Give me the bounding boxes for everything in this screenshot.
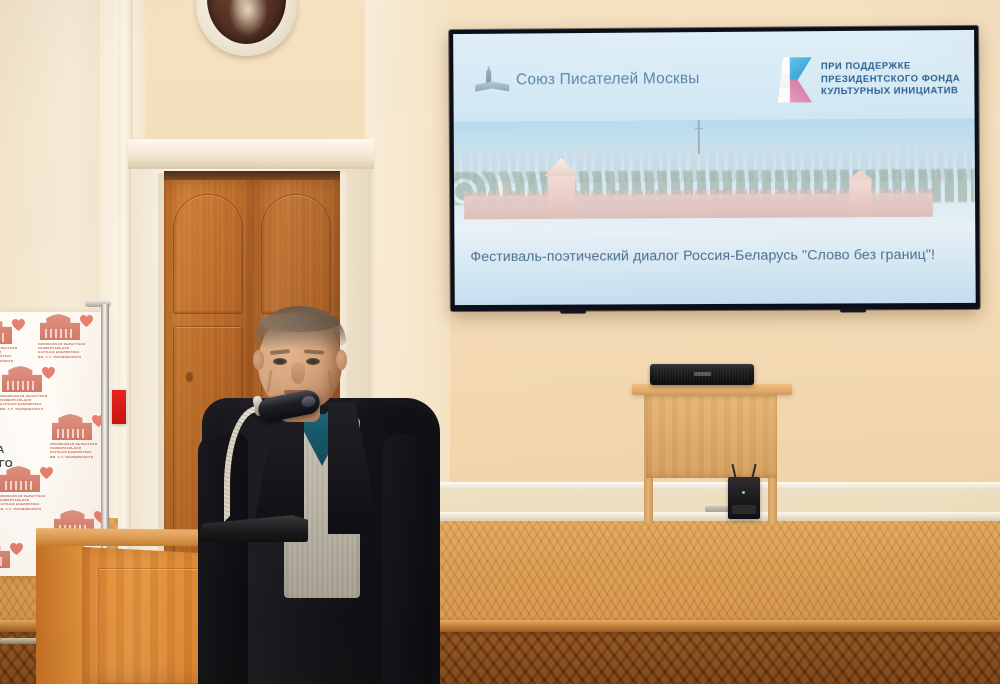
red-wall-sign (112, 390, 126, 424)
oval-portrait-frame (196, 0, 297, 56)
fund-line-1: ПРИ ПОДДЕРЖКЕ (821, 60, 911, 72)
soundbar-grille (654, 367, 750, 381)
banner-headline-text: ...НАЯ ...ЛИОТЕКА ...ДОВСКОГО (0, 430, 54, 472)
speaker-ear-right (336, 350, 347, 370)
book-icon (475, 80, 509, 91)
presentation-screen[interactable]: Союз Писателей Москвы ПРИ ПОДДЕРЖКЕ ПРЕЗ… (449, 26, 980, 311)
microphone-base (198, 515, 308, 542)
union-of-writers-logo: Союз Писателей Москвы (475, 68, 699, 92)
receiver-front-panel (732, 505, 756, 514)
photograph-scene: Союз Писателей Москвы ПРИ ПОДДЕРЖКЕ ПРЕЗ… (0, 0, 1000, 684)
library-building-icon (2, 366, 42, 392)
slide-photo-kremlin (454, 118, 976, 241)
door-lintel (164, 171, 340, 180)
slide-caption-text: Фестиваль-поэтический диалог Россия-Бела… (470, 247, 935, 265)
table-top (632, 384, 792, 395)
speaker-eye-left (273, 358, 287, 365)
banner-logo-tile: СМОЛЕНСКАЯ ОБЛАСТНАЯУНИВЕРСАЛЬНАЯНАУЧНАЯ… (36, 312, 94, 358)
heart-icon (12, 319, 25, 331)
heart-icon (10, 543, 23, 555)
slide: Союз Писателей Москвы ПРИ ПОДДЕРЖКЕ ПРЕЗ… (453, 30, 976, 305)
skirting-upper-moulding (430, 482, 1000, 490)
door-panel-upper (173, 194, 243, 314)
fund-line-2: ПРЕЗИДЕНТСКОГО ФОНДА (821, 72, 960, 84)
speaker-nose (291, 362, 305, 384)
library-building-icon (0, 318, 12, 344)
skirting-baseboard (430, 512, 1000, 521)
banner-tile-caption: СМОЛЕНСКАЯ ОБЛАСТНАЯУНИВЕРСАЛЬНАЯНАУЧНАЯ… (0, 346, 18, 359)
podium-side-face (36, 542, 84, 684)
speaker-ear-left (253, 350, 264, 370)
banner-line-3: ...ДОВСКОГО (0, 459, 13, 470)
door-panel-upper (261, 194, 331, 314)
banner-tile-caption: СМОЛЕНСКАЯ ОБЛАСТНАЯУНИВЕРСАЛЬНАЯНАУЧНАЯ… (0, 494, 46, 507)
speaker-arm-right (382, 434, 432, 684)
fund-line-3: КУЛЬТУРНЫХ ИНИЦИАТИВ (821, 84, 958, 96)
library-building-icon (40, 314, 80, 340)
microphone-gooseneck-ribs (224, 406, 286, 522)
microphone-capsule-icon (256, 388, 321, 423)
wireless-receiver[interactable] (728, 477, 760, 519)
soundbar-speaker[interactable] (650, 364, 754, 385)
banner-tile-caption: СМОЛЕНСКАЯ ОБЛАСТНАЯУНИВЕРСАЛЬНАЯНАУЧНАЯ… (38, 342, 86, 355)
tv-mount-tab-right (840, 308, 866, 312)
wood-knot (186, 372, 193, 382)
slide-caption-band (454, 229, 975, 305)
tower-icon (484, 67, 493, 83)
banner-tile-caption: СМОЛЕНСКАЯ ОБЛАСТНАЯУНИВЕРСАЛЬНАЯНАУЧНАЯ… (50, 442, 98, 455)
banner-logo-tile: СМОЛЕНСКАЯ ОБЛАСТНАЯУНИВЕРСАЛЬНАЯНАУЧНАЯ… (0, 316, 26, 362)
table-apron-panel (646, 394, 777, 478)
slide-photo-tower-left (547, 175, 575, 221)
presidential-fund-logo: ПРИ ПОДДЕРЖКЕ ПРЕЗИДЕНТСКОГО ФОНДА КУЛЬТ… (781, 56, 961, 102)
banner-logo-tile: СМОЛЕНСКАЯ ОБЛАСТНАЯУНИВЕРСАЛЬНАЯНАУЧНАЯ… (0, 364, 56, 410)
banner-line-2: ...ЛИОТЕКА (0, 445, 4, 456)
library-building-icon (0, 542, 10, 568)
gooseneck-microphone[interactable] (196, 392, 326, 542)
speaker-hair (254, 306, 346, 350)
speaker-eye-right (306, 358, 320, 365)
banner-logo-tile: СМОЛЕНСКАЯ ОБЛАСТНАЯУНИВЕРСАЛЬНАЯНАУЧНАЯ… (48, 412, 102, 458)
tv-mount-tab-left (560, 310, 586, 314)
heart-icon (80, 315, 93, 327)
library-building-icon (52, 414, 92, 440)
union-of-writers-label: Союз Писателей Москвы (516, 70, 700, 89)
banner-tile-caption: СМОЛЕНСКАЯ ОБЛАСТНАЯУНИВЕРСАЛЬНАЯНАУЧНАЯ… (0, 394, 48, 407)
fund-k-mark-icon (781, 57, 812, 102)
slide-photo-tower-right (849, 179, 871, 219)
heart-icon (42, 367, 55, 379)
receiver-power-led-icon (742, 491, 745, 494)
door-cornice (128, 139, 374, 169)
banner-logo-tile (0, 540, 24, 576)
open-book-icon (475, 70, 509, 92)
presidential-fund-text: ПРИ ПОДДЕРЖКЕ ПРЕЗИДЕНТСКОГО ФОНДА КУЛЬТ… (821, 56, 961, 98)
